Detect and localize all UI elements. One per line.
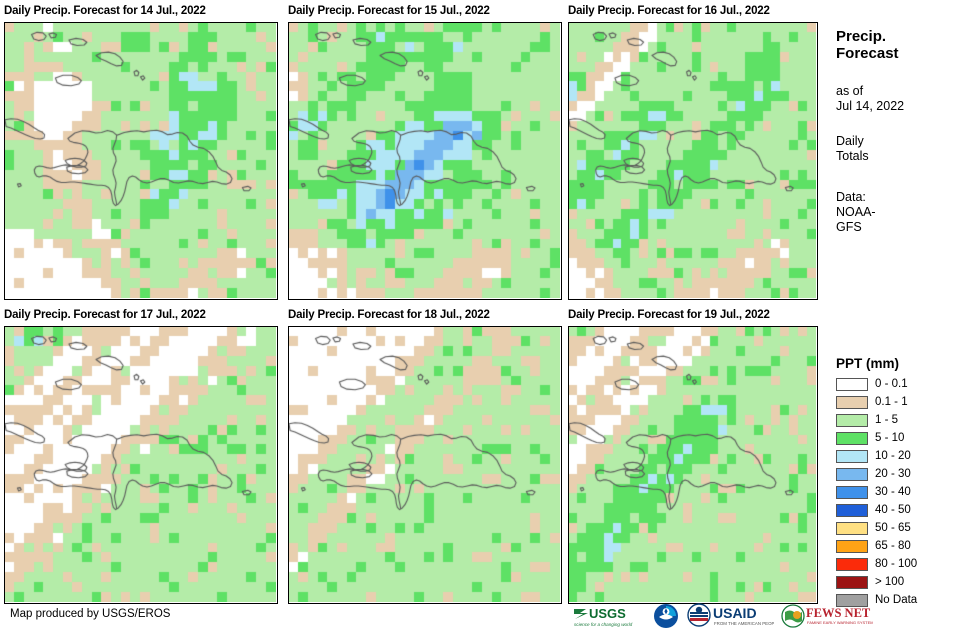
legend-row: 30 - 40 [836, 483, 970, 501]
legend-label: 50 - 65 [875, 522, 911, 534]
map-title-line2: Forecast [836, 45, 970, 62]
precip-raster-6 [569, 327, 816, 602]
forecast-panel-5: Daily Precip. Forecast for 18 Jul., 2022 [288, 308, 562, 604]
legend-label: 65 - 80 [875, 540, 911, 552]
legend-row: 5 - 10 [836, 429, 970, 447]
panel-title-5: Daily Precip. Forecast for 18 Jul., 2022 [288, 308, 562, 322]
svg-text:USAID: USAID [713, 605, 757, 621]
legend-swatch [836, 432, 868, 445]
noaa-logo [653, 603, 679, 629]
precip-raster-4 [5, 327, 276, 602]
legend-row: 10 - 20 [836, 447, 970, 465]
legend-label: 30 - 40 [875, 486, 911, 498]
forecast-panel-4: Daily Precip. Forecast for 17 Jul., 2022 [4, 308, 278, 604]
panel-title-2: Daily Precip. Forecast for 15 Jul., 2022 [288, 4, 562, 18]
forecast-panel-6: Daily Precip. Forecast for 19 Jul., 2022 [568, 308, 818, 604]
legend-swatch [836, 396, 868, 409]
forecast-panel-2: Daily Precip. Forecast for 15 Jul., 2022 [288, 4, 562, 300]
legend-row: 0 - 0.1 [836, 375, 970, 393]
data-source-line2: NOAA- [836, 205, 970, 220]
usgs-logo: USGSscience for a changing world [572, 603, 646, 629]
legend-label: 0.1 - 1 [875, 396, 908, 408]
legend-swatch [836, 576, 868, 589]
map-title-line1: Precip. [836, 28, 970, 45]
map-credit: Map produced by USGS/EROS [10, 608, 170, 620]
panel-title-4: Daily Precip. Forecast for 17 Jul., 2022 [4, 308, 278, 322]
precip-map-4[interactable] [4, 326, 278, 604]
legend-swatch [836, 504, 868, 517]
legend-label: > 100 [875, 576, 904, 588]
svg-text:FAMINE EARLY WARNING SYSTEMS N: FAMINE EARLY WARNING SYSTEMS NETWORK [807, 620, 873, 625]
precip-map-1[interactable] [4, 22, 278, 300]
precip-map-6[interactable] [568, 326, 818, 604]
legend-swatch [836, 486, 868, 499]
legend-row: 0.1 - 1 [836, 393, 970, 411]
svg-text:science for a changing world: science for a changing world [574, 622, 633, 627]
legend: PPT (mm)0 - 0.10.1 - 11 - 55 - 1010 - 20… [836, 356, 970, 609]
svg-text:USGS: USGS [589, 606, 626, 621]
forecast-panel-1: Daily Precip. Forecast for 14 Jul., 2022 [4, 4, 278, 300]
legend-row: 1 - 5 [836, 411, 970, 429]
fewsnet-logo: FEWS NETFAMINE EARLY WARNING SYSTEMS NET… [781, 603, 873, 629]
period-line1: Daily [836, 134, 970, 149]
legend-label: 10 - 20 [875, 450, 911, 462]
precip-raster-5 [289, 327, 560, 602]
legend-swatch [836, 540, 868, 553]
precip-raster-2 [289, 23, 560, 298]
legend-swatch [836, 468, 868, 481]
legend-row: 20 - 30 [836, 465, 970, 483]
legend-label: 5 - 10 [875, 432, 904, 444]
info-panel: Precip.Forecastas ofJul 14, 2022DailyTot… [836, 28, 970, 235]
panel-title-3: Daily Precip. Forecast for 16 Jul., 2022 [568, 4, 818, 18]
legend-row: 65 - 80 [836, 537, 970, 555]
data-source-label: Data: [836, 190, 970, 205]
legend-row: 50 - 65 [836, 519, 970, 537]
forecast-panel-3: Daily Precip. Forecast for 16 Jul., 2022 [568, 4, 818, 300]
svg-text:FROM THE AMERICAN PEOPLE: FROM THE AMERICAN PEOPLE [714, 621, 774, 626]
precip-map-3[interactable] [568, 22, 818, 300]
legend-row: > 100 [836, 573, 970, 591]
precip-raster-3 [569, 23, 816, 298]
legend-row: 80 - 100 [836, 555, 970, 573]
data-source-line3: GFS [836, 220, 970, 235]
asof-date: Jul 14, 2022 [836, 99, 970, 114]
panel-title-1: Daily Precip. Forecast for 14 Jul., 2022 [4, 4, 278, 18]
partner-logos: USGSscience for a changing worldUSAIDFRO… [572, 601, 873, 631]
legend-label: 20 - 30 [875, 468, 911, 480]
legend-swatch [836, 522, 868, 535]
legend-swatch [836, 558, 868, 571]
legend-label: 40 - 50 [875, 504, 911, 516]
precip-raster-1 [5, 23, 276, 298]
svg-text:FEWS NET: FEWS NET [806, 606, 871, 620]
legend-swatch [836, 450, 868, 463]
legend-title: PPT (mm) [836, 356, 970, 371]
legend-label: 80 - 100 [875, 558, 917, 570]
legend-label: 0 - 0.1 [875, 378, 908, 390]
legend-row: 40 - 50 [836, 501, 970, 519]
legend-swatch [836, 378, 868, 391]
asof-label: as of [836, 84, 970, 99]
precip-map-5[interactable] [288, 326, 562, 604]
panel-title-6: Daily Precip. Forecast for 19 Jul., 2022 [568, 308, 818, 322]
usaid-logo: USAIDFROM THE AMERICAN PEOPLE [686, 603, 774, 629]
period-line2: Totals [836, 149, 970, 164]
legend-label: 1 - 5 [875, 414, 898, 426]
precip-map-2[interactable] [288, 22, 562, 300]
legend-label: No Data [875, 594, 917, 606]
legend-swatch [836, 414, 868, 427]
